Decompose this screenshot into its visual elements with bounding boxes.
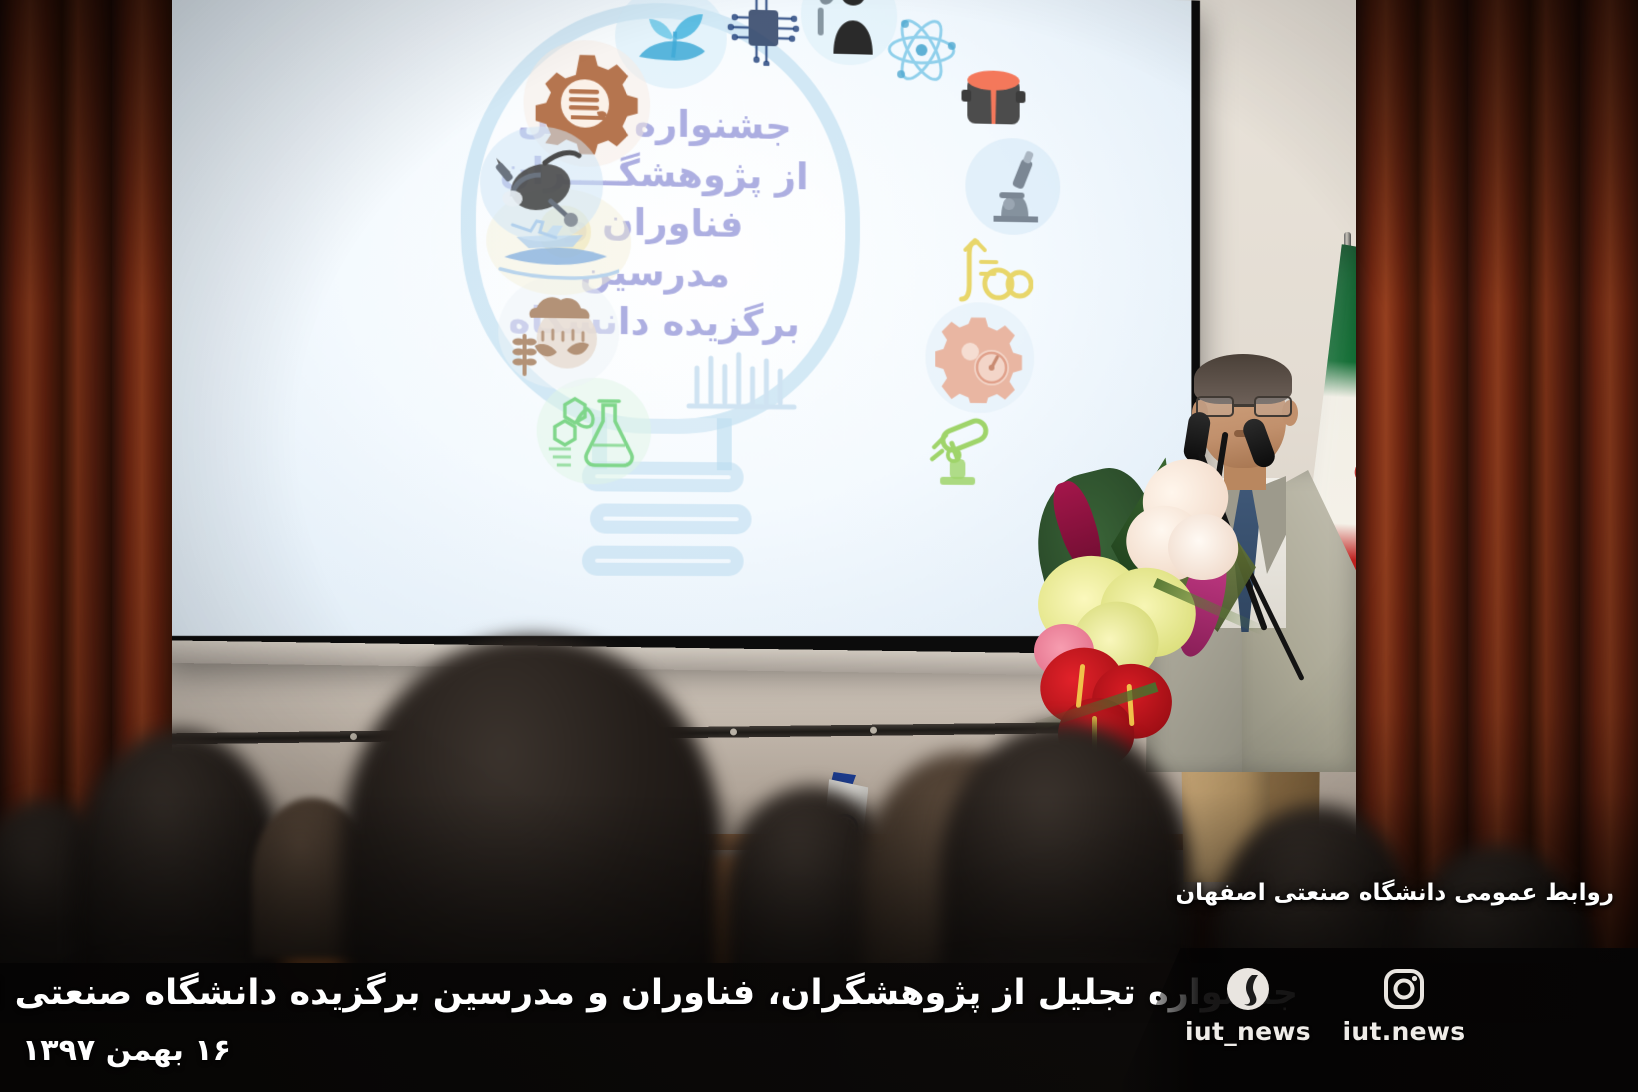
soroush-icon[interactable] <box>1225 966 1271 1012</box>
soroush-handle[interactable]: iut_news <box>1185 1017 1311 1046</box>
instagram-handle[interactable]: iut.news <box>1343 1017 1466 1046</box>
public-relations-credit: روابط عمومی دانشگاه صنعتی اصفهان <box>1176 880 1614 906</box>
robot-arm-icon <box>916 406 1000 492</box>
crucible-icon <box>953 55 1034 138</box>
businessman-icon <box>808 0 890 59</box>
factory-icon <box>683 346 802 423</box>
caption-headline: جشنواره تجلیل از پژوهشگران، فناوران و مد… <box>0 964 1298 1022</box>
atom-icon <box>882 9 960 90</box>
microscope-icon <box>972 144 1053 228</box>
agriculture-climate-icon <box>506 283 611 381</box>
instagram-icon[interactable] <box>1381 966 1427 1012</box>
eyeglasses-icon <box>1196 396 1292 418</box>
microchip-icon <box>717 0 808 69</box>
chemistry-flask-icon <box>545 384 643 477</box>
gear-gauge-icon <box>933 310 1026 406</box>
event-date: ۱۶ بهمن ۱۳۹۷ <box>22 1033 231 1068</box>
photo-canvas: جشنواره تجلیل از پژوهشگــــران فناوران و… <box>0 0 1638 1092</box>
satellite-icon <box>488 134 595 235</box>
social-soroush[interactable]: iut_news <box>1178 966 1318 1046</box>
social-instagram[interactable]: iut.news <box>1334 966 1474 1046</box>
integral-math-icon <box>951 231 1034 313</box>
